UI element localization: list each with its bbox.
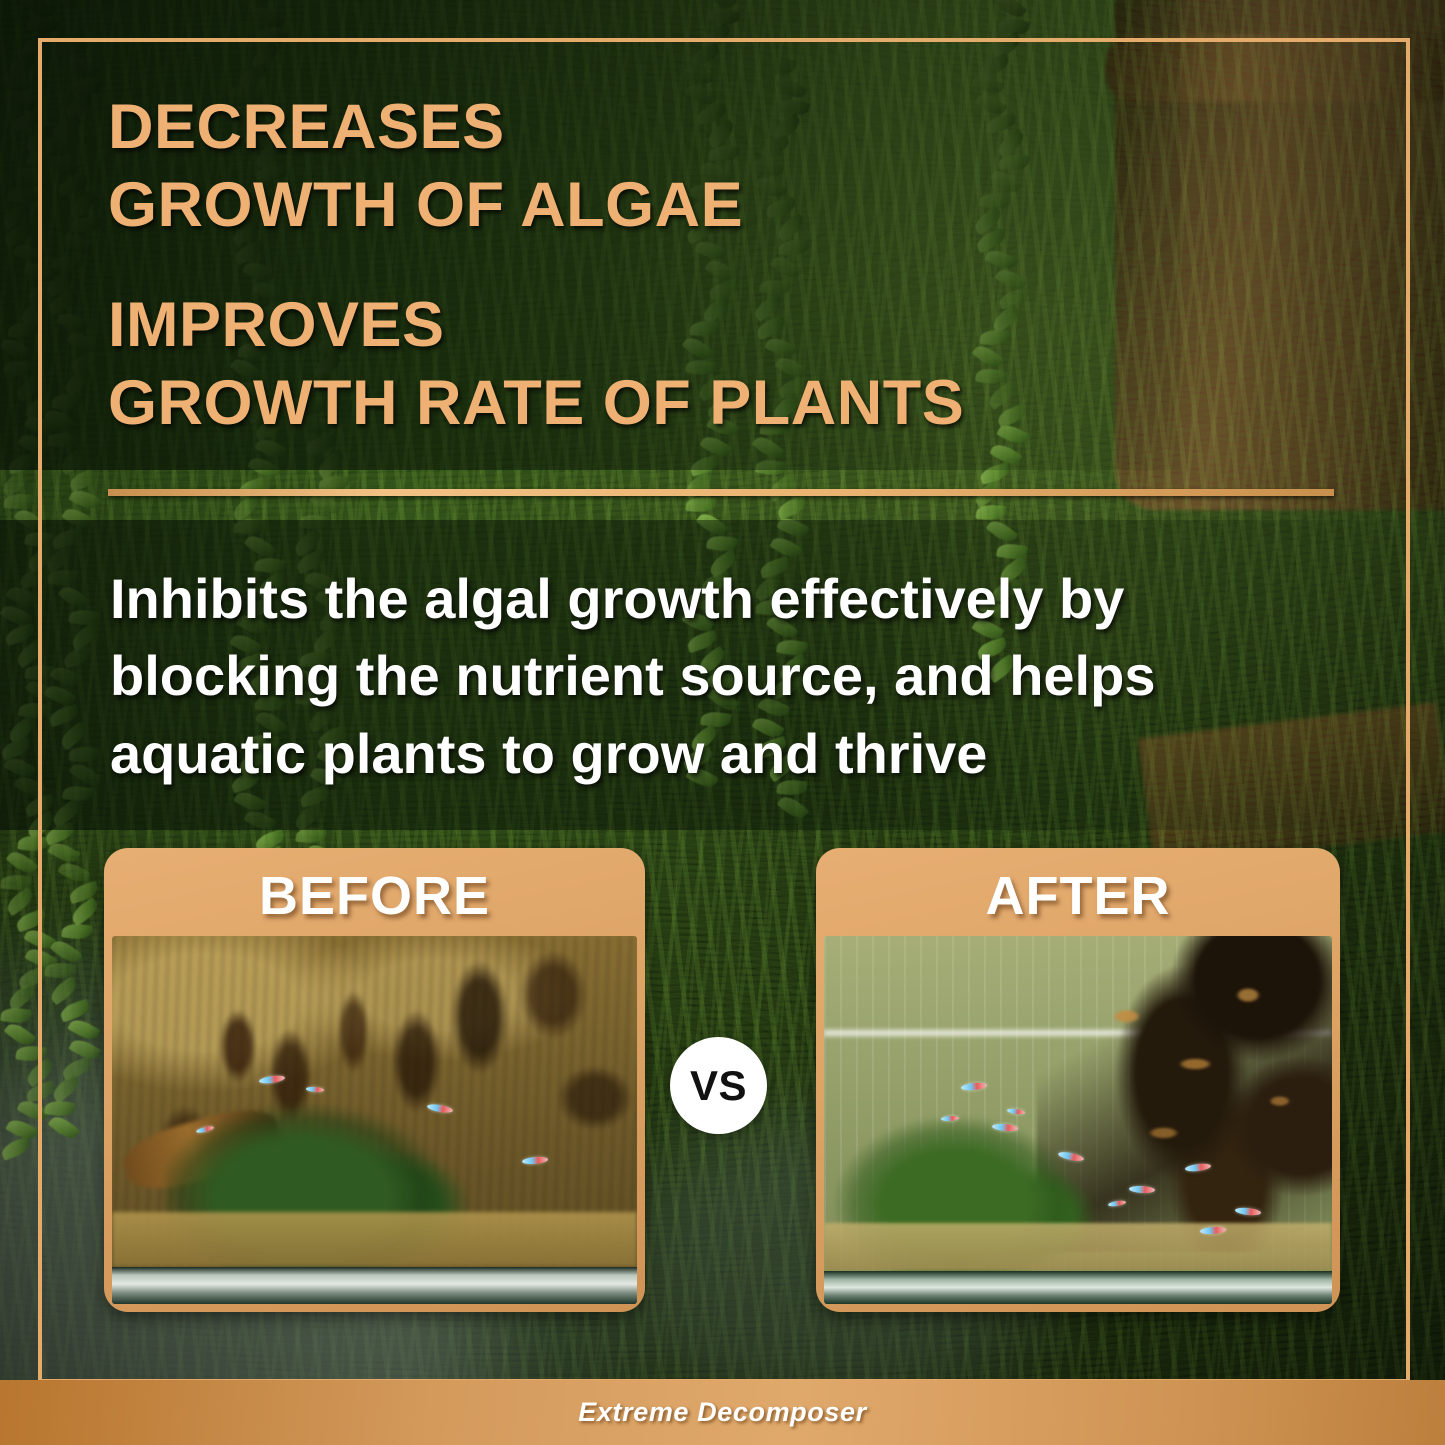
- after-tank-rim: [824, 1271, 1332, 1304]
- after-substrate: [824, 1223, 1332, 1271]
- before-card-label: BEFORE: [112, 856, 637, 936]
- footer-bar: Extreme Decomposer: [0, 1380, 1445, 1445]
- headline-block: DECREASES GROWTH OF ALGAE IMPROVES GROWT…: [108, 88, 1208, 442]
- footer-brand-text: Extreme Decomposer: [578, 1397, 866, 1428]
- before-tank-rim: [112, 1267, 637, 1304]
- body-copy-block: Inhibits the algal growth effectively by…: [110, 560, 1340, 792]
- after-card-label: AFTER: [824, 856, 1332, 936]
- before-substrate: [112, 1212, 637, 1267]
- headline-spacer: [108, 244, 1208, 286]
- before-comparison-card: BEFORE: [104, 848, 645, 1312]
- headline-line-1: DECREASES: [108, 88, 1208, 166]
- vs-badge: VS: [670, 1037, 767, 1134]
- headline-line-2: GROWTH OF ALGAE: [108, 166, 1208, 244]
- body-copy-line-3: aquatic plants to grow and thrive: [110, 715, 1340, 792]
- after-aquarium-photo: [824, 936, 1332, 1304]
- body-copy-line-2: blocking the nutrient source, and helps: [110, 637, 1340, 714]
- product-feature-poster: DECREASES GROWTH OF ALGAE IMPROVES GROWT…: [0, 0, 1445, 1445]
- after-comparison-card: AFTER: [816, 848, 1340, 1312]
- headline-line-3: IMPROVES: [108, 286, 1208, 364]
- section-divider: [108, 489, 1334, 496]
- headline-line-4: GROWTH RATE OF PLANTS: [108, 364, 1208, 442]
- body-copy-line-1: Inhibits the algal growth effectively by: [110, 560, 1340, 637]
- before-aquarium-photo: [112, 936, 637, 1304]
